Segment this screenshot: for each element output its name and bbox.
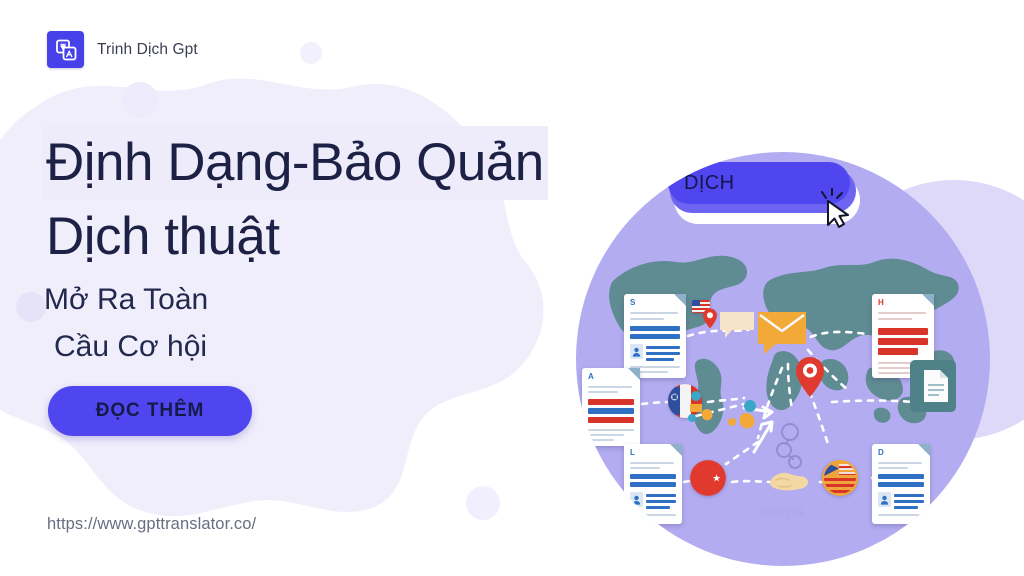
- malaysia-usa-flag-icon: [822, 460, 858, 496]
- read-more-button[interactable]: ĐỌC THÊM: [48, 386, 252, 436]
- document-tag: A: [588, 373, 594, 381]
- subtitle-line-1: Mở Ra Toàn: [44, 276, 208, 323]
- illustration-circle: S: [576, 152, 990, 566]
- mouse-pointer-icon: [820, 188, 854, 228]
- speech-bubble-icon: [720, 312, 754, 340]
- location-pin-icon: [794, 356, 826, 398]
- page-fold-icon: [670, 444, 682, 456]
- headline-line-1: Định Dạng-Bảo Quản: [42, 126, 548, 200]
- page-fold-icon: [628, 368, 640, 380]
- decor-dot: [300, 42, 322, 64]
- page-fold-icon: [918, 444, 930, 456]
- subtitle-line-2: Cầu Cơ hội: [44, 323, 207, 370]
- decor-dot: [166, 466, 210, 510]
- document-tag: H: [878, 299, 884, 307]
- envelope-icon: [756, 310, 808, 356]
- document-card-d: D: [872, 444, 930, 524]
- teal-document-icon: [908, 358, 960, 416]
- page-title: Định Dạng-Bảo Quản Dịch thuật: [46, 126, 548, 274]
- location-pin-small-icon: [702, 308, 718, 329]
- hero-illustration: S: [576, 152, 990, 566]
- decor-dot: [16, 292, 46, 322]
- page-fold-icon: [922, 294, 934, 306]
- headline-line-2: Dịch thuật: [46, 200, 280, 274]
- document-card-a: A: [582, 368, 640, 446]
- hero-banner: Trinh Dịch Gpt Định Dạng-Bảo Quản Dịch t…: [0, 0, 1024, 576]
- subtitle: Mở Ra Toàn Cầu Cơ hội: [44, 276, 208, 370]
- document-tag: S: [630, 299, 635, 307]
- decor-dot: [122, 82, 158, 118]
- network-glyph-icon: [770, 420, 810, 474]
- watermark-text: freepik: [760, 504, 806, 519]
- document-tag: D: [878, 449, 884, 457]
- brand-name: Trinh Dịch Gpt: [97, 41, 198, 59]
- brand-logo[interactable]: Trinh Dịch Gpt: [47, 31, 198, 68]
- page-fold-icon: [674, 294, 686, 306]
- document-card-l: L: [624, 444, 682, 524]
- turkey-flag-icon: [690, 460, 726, 496]
- map-accent-icons-2: [718, 396, 764, 442]
- website-url: https://www.gpttranslator.co/: [47, 515, 256, 534]
- translate-button-group: DỊCH: [668, 162, 860, 226]
- decor-dot: [466, 486, 500, 520]
- document-tag: L: [630, 449, 635, 457]
- translate-squares-icon: [47, 31, 84, 68]
- document-card-s: S: [624, 294, 686, 378]
